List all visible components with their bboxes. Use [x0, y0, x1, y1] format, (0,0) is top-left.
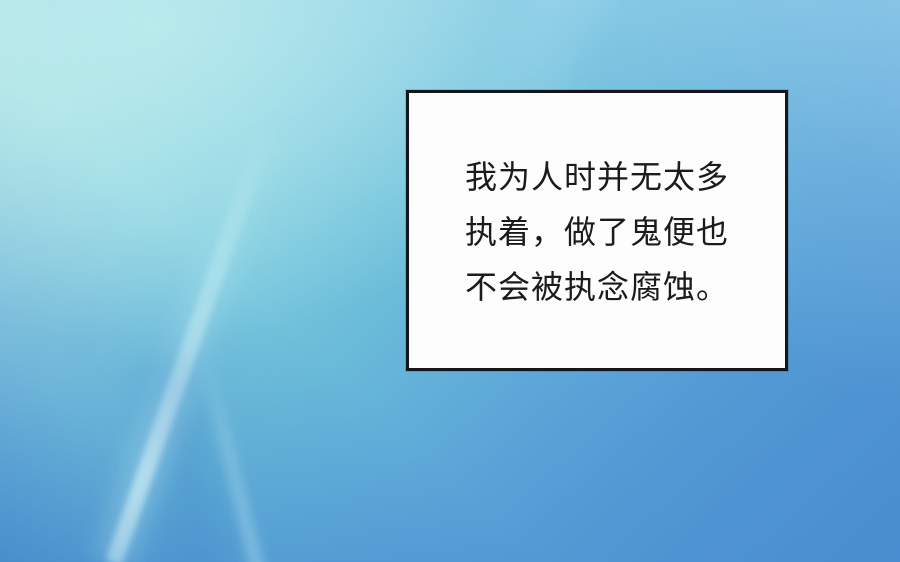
speech-line-1: 我为人时并无太多	[465, 150, 765, 205]
speech-text-block: 我为人时并无太多 执着，做了鬼便也 不会被执念腐蚀。	[465, 150, 765, 315]
speech-box: 我为人时并无太多 执着，做了鬼便也 不会被执念腐蚀。	[406, 90, 788, 371]
speech-line-3: 不会被执念腐蚀。	[465, 260, 765, 315]
comic-panel: 我为人时并无太多 执着，做了鬼便也 不会被执念腐蚀。	[0, 0, 900, 562]
speech-line-2: 执着，做了鬼便也	[465, 205, 765, 260]
